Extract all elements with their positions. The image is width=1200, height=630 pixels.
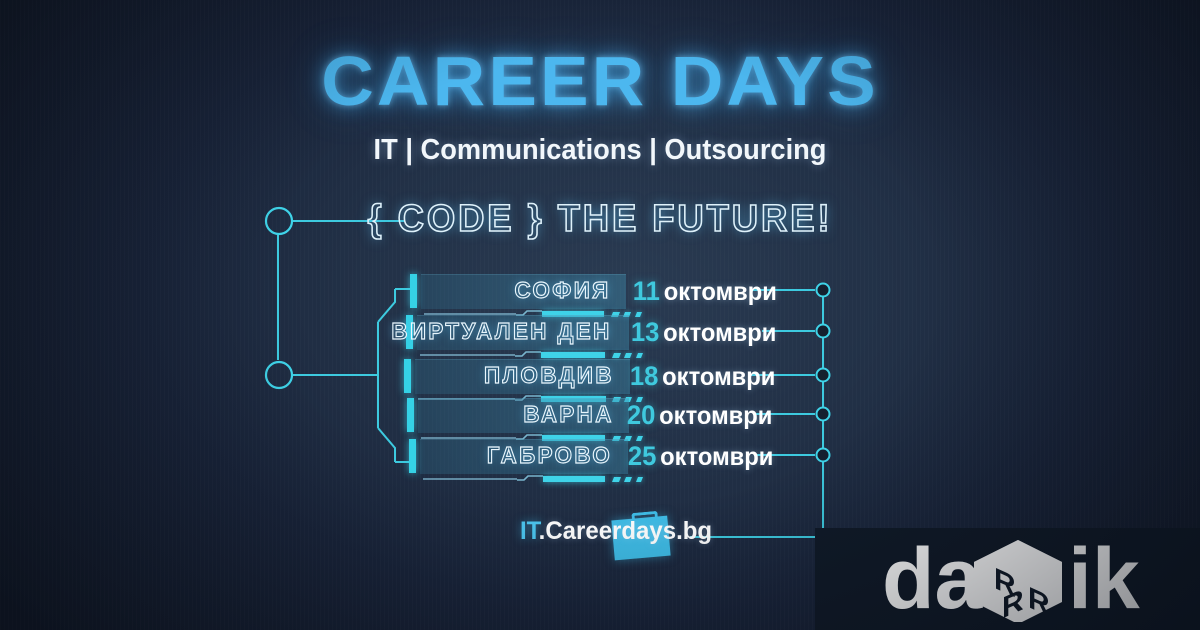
date-month: октомври bbox=[662, 363, 775, 391]
event-row[interactable]: ГАБРОВО bbox=[409, 439, 631, 473]
row-panel: ВАРНА bbox=[418, 398, 629, 433]
event-row[interactable]: ПЛОВДИВ bbox=[404, 359, 633, 393]
date-month: октомври bbox=[659, 402, 772, 430]
city-label: ГАБРОВО bbox=[487, 442, 612, 469]
row-accent-bar bbox=[409, 439, 416, 473]
row-accent-bar bbox=[404, 359, 411, 393]
event-row[interactable]: ВИРТУАЛЕН ДЕН bbox=[406, 315, 632, 349]
url-rest: .Careerdays.bg bbox=[539, 517, 712, 545]
row-panel: ПЛОВДИВ bbox=[415, 359, 630, 394]
darik-logo-panel: da R R R ik bbox=[815, 528, 1200, 630]
url-prefix: IT bbox=[520, 517, 539, 545]
city-label: ПЛОВДИВ bbox=[484, 362, 614, 389]
date-month: октомври bbox=[663, 319, 776, 347]
event-date: 13октомври bbox=[631, 317, 777, 348]
event-date: 18октомври bbox=[630, 361, 776, 392]
event-row[interactable]: СОФИЯ bbox=[410, 274, 629, 308]
event-row[interactable]: ВАРНА bbox=[407, 398, 632, 432]
city-label: ВАРНА bbox=[523, 401, 613, 428]
date-day: 25 bbox=[628, 441, 657, 471]
page-title: CAREER DAYS bbox=[0, 46, 1200, 116]
website-url-text: IT.Careerdays.bg bbox=[520, 517, 712, 546]
city-label: ВИРТУАЛЕН ДЕН bbox=[391, 318, 611, 345]
subtitle: IT | Communications | Outsourcing bbox=[36, 134, 1164, 167]
underline-thin bbox=[420, 354, 515, 356]
date-day: 18 bbox=[630, 361, 659, 391]
row-underline bbox=[423, 473, 633, 485]
underline-notch bbox=[517, 473, 543, 485]
svg-text:ik: ik bbox=[1068, 538, 1140, 622]
svg-text:da: da bbox=[882, 538, 984, 622]
underline-bar bbox=[541, 352, 605, 358]
underline-dash bbox=[624, 353, 632, 358]
underline-thin bbox=[423, 478, 517, 480]
row-accent-bar bbox=[407, 398, 414, 432]
date-day: 11 bbox=[633, 276, 660, 306]
underline-dash bbox=[612, 353, 621, 358]
underline-bar bbox=[543, 476, 605, 482]
event-date: 25октомври bbox=[628, 441, 774, 472]
row-accent-bar bbox=[410, 274, 417, 308]
city-label: СОФИЯ bbox=[514, 277, 610, 304]
poster-canvas: CAREER DAYS IT | Communications | Outsou… bbox=[0, 0, 1200, 630]
darik-logo: da R R R ik bbox=[880, 538, 1180, 622]
row-panel: СОФИЯ bbox=[421, 274, 626, 309]
date-day: 20 bbox=[627, 400, 656, 430]
event-date: 20октомври bbox=[627, 400, 773, 431]
date-month: октомври bbox=[664, 278, 777, 306]
date-month: октомври bbox=[660, 443, 773, 471]
row-panel: ГАБРОВО bbox=[420, 439, 628, 474]
tagline: { CODE } THE FUTURE! bbox=[24, 198, 1176, 241]
row-panel: ВИРТУАЛЕН ДЕН bbox=[417, 315, 629, 350]
date-day: 13 bbox=[631, 317, 660, 347]
event-date: 11октомври bbox=[633, 276, 777, 307]
underline-dash bbox=[612, 477, 621, 482]
underline-dash bbox=[624, 477, 632, 482]
